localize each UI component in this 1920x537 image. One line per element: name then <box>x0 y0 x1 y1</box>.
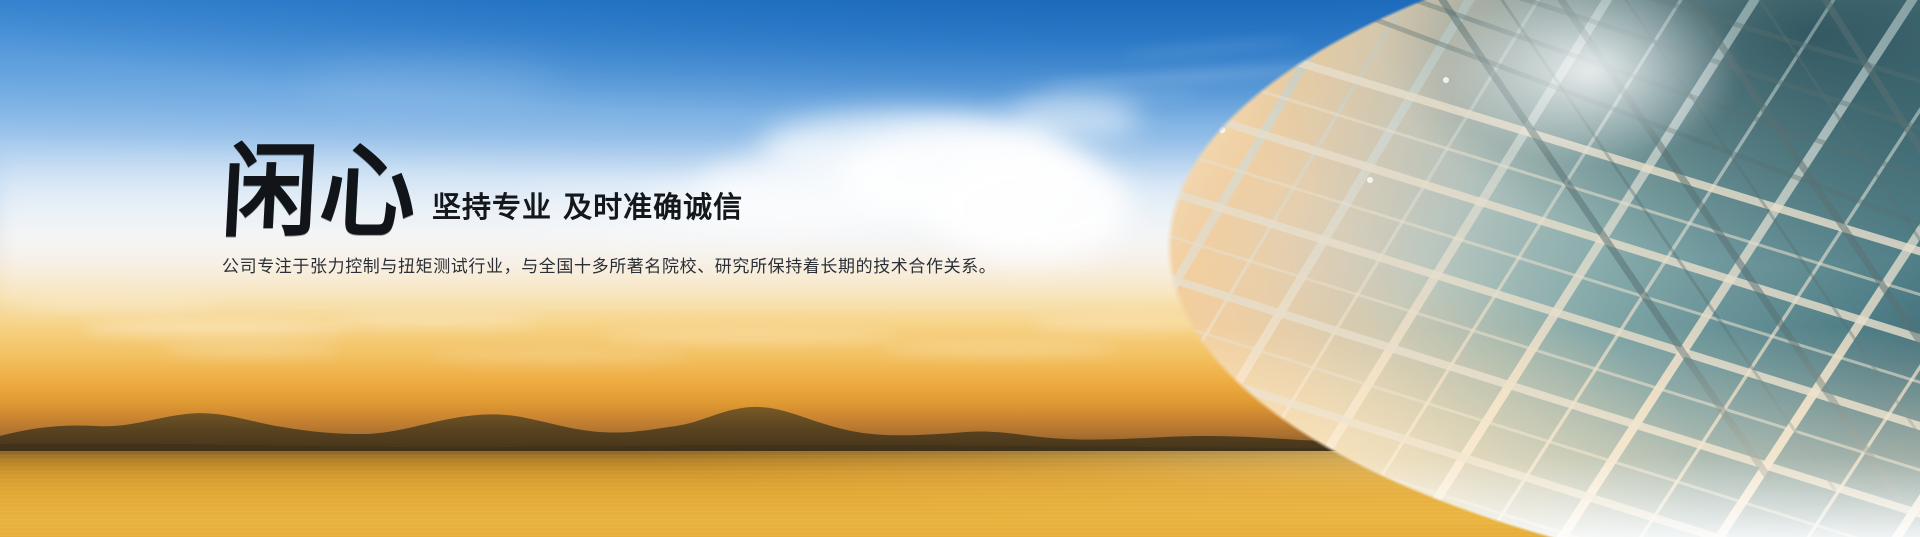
banner-description: 公司专注于张力控制与扭矩测试行业，与全国十多所著名院校、研究所保持着长期的技术合… <box>222 252 982 277</box>
building-bottom-glow <box>990 327 1920 537</box>
building-curved-left-edge <box>990 0 1068 537</box>
banner-copy-block: 闲心 坚持专业 及时准确诚信 公司专注于张力控制与扭矩测试行业，与全国十多所著名… <box>222 148 982 277</box>
banner-slogan: 坚持专业 及时准确诚信 <box>432 184 743 236</box>
brand-calligraphy-title: 闲心 <box>220 145 421 239</box>
sunset-cloud-3 <box>600 330 900 342</box>
building-sky-specular <box>1380 0 1800 200</box>
cloud-wisp-upper-left <box>300 60 560 100</box>
banner-headline: 闲心 坚持专业 及时准确诚信 <box>222 148 982 236</box>
glass-building <box>990 0 1920 537</box>
sunset-cloud-1 <box>80 322 350 335</box>
sunset-cloud-8 <box>20 300 220 310</box>
sunset-cloud-2 <box>330 316 540 327</box>
sunset-cloud-4 <box>160 345 340 355</box>
sunset-cloud-6 <box>430 352 690 361</box>
hero-banner: 闲心 坚持专业 及时准确诚信 公司专注于张力控制与扭矩测试行业，与全国十多所著名… <box>0 0 1920 537</box>
